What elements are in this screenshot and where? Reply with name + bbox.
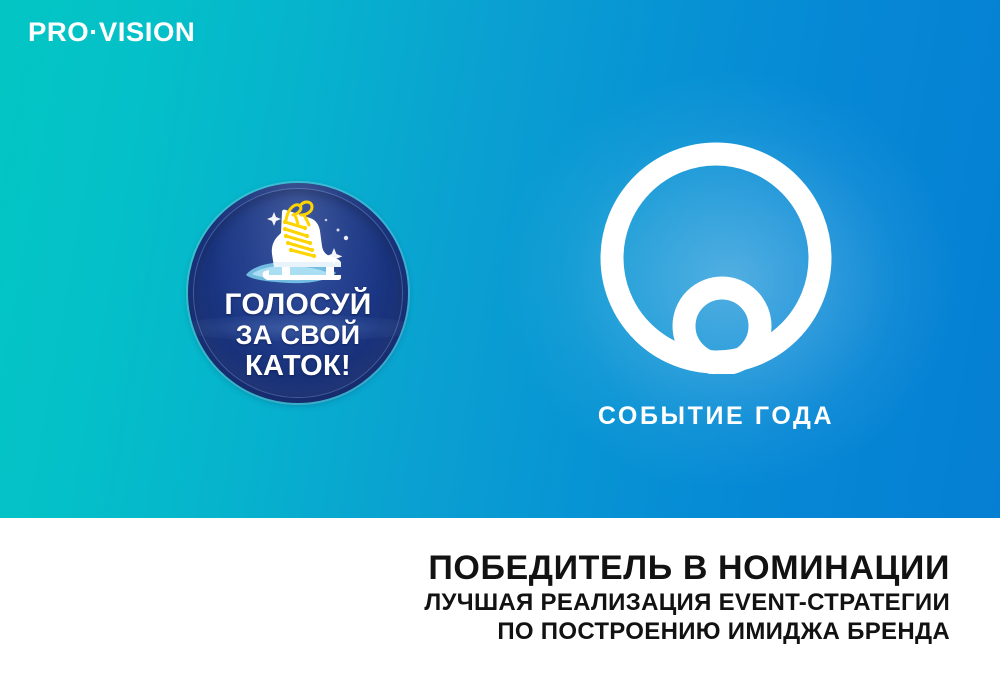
award-title: ПОБЕДИТЕЛЬ В НОМИНАЦИИ	[424, 548, 950, 588]
sobytie-goda-logo-icon	[596, 142, 836, 374]
award-poster: PRO·VISION	[0, 0, 1000, 700]
award-subtitle-line-2: ПО ПОСТРОЕНИЮ ИМИДЖА БРЕНДА	[424, 617, 950, 646]
figure-skate-icon	[238, 196, 360, 288]
award-subtitle-line-1: ЛУЧШАЯ РЕАЛИЗАЦИЯ EVENT-СТРАТЕГИИ	[424, 588, 950, 617]
badge-text-block: ГОЛОСУЙ ЗА СВОЙ КАТОК!	[188, 289, 408, 382]
badge-line-3: КАТОК!	[188, 351, 408, 382]
hero-gradient-band	[0, 0, 1000, 518]
vote-for-your-rink-badge: ГОЛОСУЙ ЗА СВОЙ КАТОК!	[188, 183, 408, 403]
provision-logo: PRO·VISION	[28, 19, 195, 46]
badge-line-2: ЗА СВОЙ	[188, 320, 408, 351]
badge-line-1: ГОЛОСУЙ	[188, 289, 408, 320]
award-text-block: ПОБЕДИТЕЛЬ В НОМИНАЦИИ ЛУЧШАЯ РЕАЛИЗАЦИЯ…	[424, 548, 950, 646]
event-logo-caption: СОБЫТИЕ ГОДА	[556, 404, 876, 429]
